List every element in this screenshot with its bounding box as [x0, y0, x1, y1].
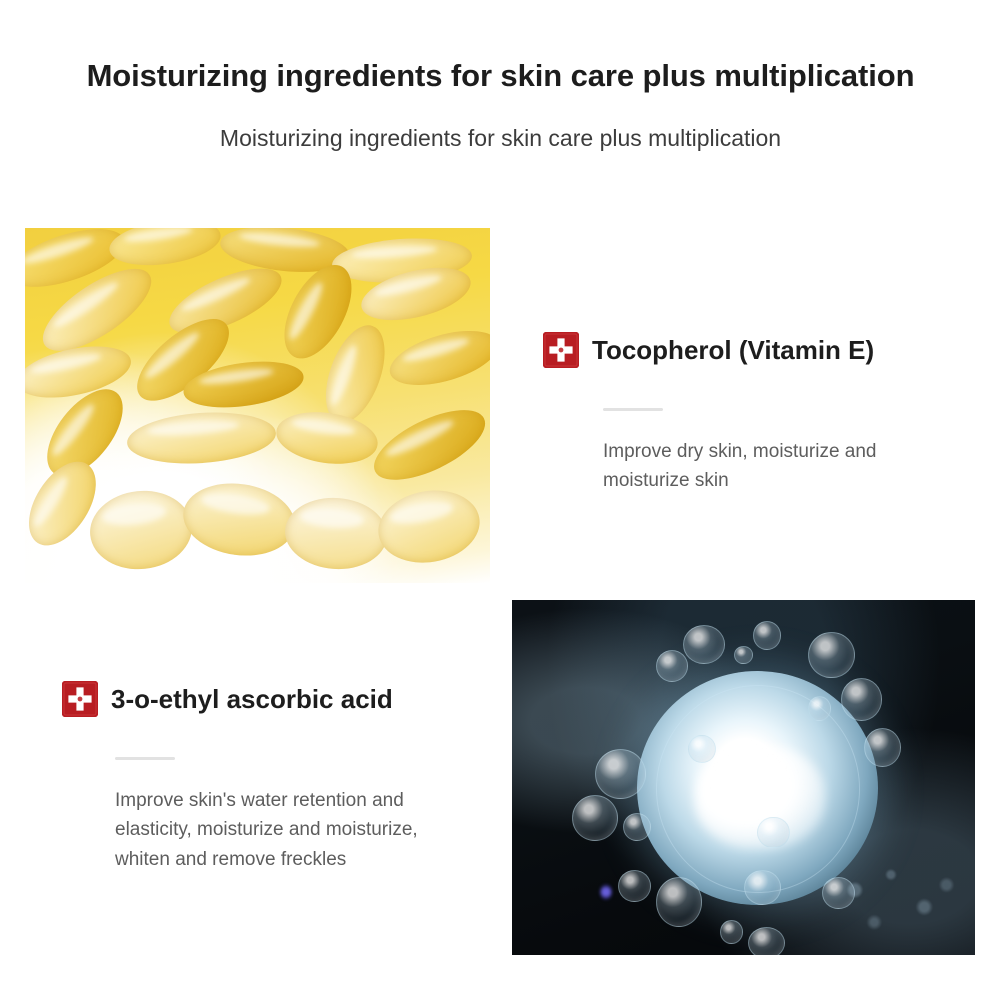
feature-ascorbic-acid: 3-o-ethyl ascorbic acid Improve skin's w… [62, 681, 465, 874]
feature-tocopherol-title: Tocopherol (Vitamin E) [592, 335, 874, 366]
feature-ascorbic-acid-divider [115, 757, 175, 760]
bubble-shape [757, 817, 789, 849]
bubble-shape [618, 870, 650, 902]
bubble-shape [688, 735, 716, 763]
bubble-shape [656, 877, 702, 927]
vitamin-e-softgel-capsules-photo [25, 228, 490, 583]
bubble-shape [748, 927, 785, 955]
feature-ascorbic-acid-title: 3-o-ethyl ascorbic acid [111, 684, 393, 715]
page-title: Moisturizing ingredients for skin care p… [0, 58, 1001, 94]
bubble-shape [744, 870, 781, 906]
feature-tocopherol: Tocopherol (Vitamin E) Improve dry skin,… [543, 332, 933, 496]
feature-tocopherol-divider [603, 408, 663, 411]
bubble-shape [734, 646, 753, 664]
bubble-shape [623, 813, 651, 841]
bubble-shape [753, 621, 781, 649]
feature-tocopherol-description: Improve dry skin, moisturize and moistur… [603, 437, 933, 496]
red-cross-badge-icon [62, 681, 98, 717]
page-subtitle: Moisturizing ingredients for skin care p… [0, 125, 1001, 152]
bubble-shape [683, 625, 725, 664]
bubble-spray-cluster [827, 856, 966, 941]
water-bubble-sphere-photo [512, 600, 975, 955]
bubble-purple-glint [600, 884, 612, 900]
bubble-shape [864, 728, 901, 767]
feature-ascorbic-acid-description: Improve skin's water retention and elast… [115, 786, 465, 874]
feature-tocopherol-header: Tocopherol (Vitamin E) [543, 332, 933, 368]
bubble-shape [808, 632, 854, 678]
feature-ascorbic-acid-header: 3-o-ethyl ascorbic acid [62, 681, 465, 717]
bubble-shape [841, 678, 883, 721]
bubble-shape [595, 749, 646, 799]
red-cross-badge-icon [543, 332, 579, 368]
product-ingredient-infographic: Moisturizing ingredients for skin care p… [0, 0, 1001, 1001]
bubble-shape [808, 696, 831, 721]
bubble-shape [656, 650, 688, 682]
